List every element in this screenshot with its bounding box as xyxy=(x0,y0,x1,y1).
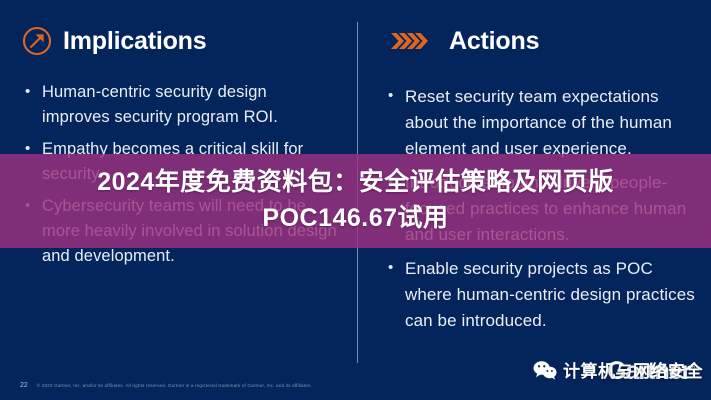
page-number: 22 xyxy=(20,382,28,389)
actions-heading: Actions xyxy=(385,22,695,60)
presentation-slide: Implications Human-centric security desi… xyxy=(0,0,711,400)
watermark-line-2: POC146.67试用 xyxy=(262,202,448,236)
chevrons-right-icon xyxy=(391,31,429,51)
slide-footer: 22 © 2023 Gartner, Inc. and/or its affil… xyxy=(20,382,312,389)
implications-title: Implications xyxy=(63,29,206,54)
watermark-line-1: 2024年度免费资料包：安全评估策略及网页版 xyxy=(97,166,614,200)
wechat-icon xyxy=(533,360,557,380)
list-item: Enable security projects as POC where hu… xyxy=(385,256,695,334)
list-item: Human-centric security design improves s… xyxy=(22,80,337,130)
circle-arrow-up-right-icon xyxy=(22,26,52,56)
implications-heading: Implications xyxy=(22,22,337,60)
wechat-account-name: 计算机与网络安全 xyxy=(563,357,703,382)
watermark-text: 2024年度免费资料包：安全评估策略及网页版 POC146.67试用 xyxy=(0,154,711,248)
list-item: Reset security team expectations about t… xyxy=(385,84,695,162)
actions-title: Actions xyxy=(449,29,539,54)
wechat-brand-overlay: 计算机与网络安全 xyxy=(533,357,703,382)
copyright-notice: © 2023 Gartner, Inc. and/or its affiliat… xyxy=(37,383,312,388)
